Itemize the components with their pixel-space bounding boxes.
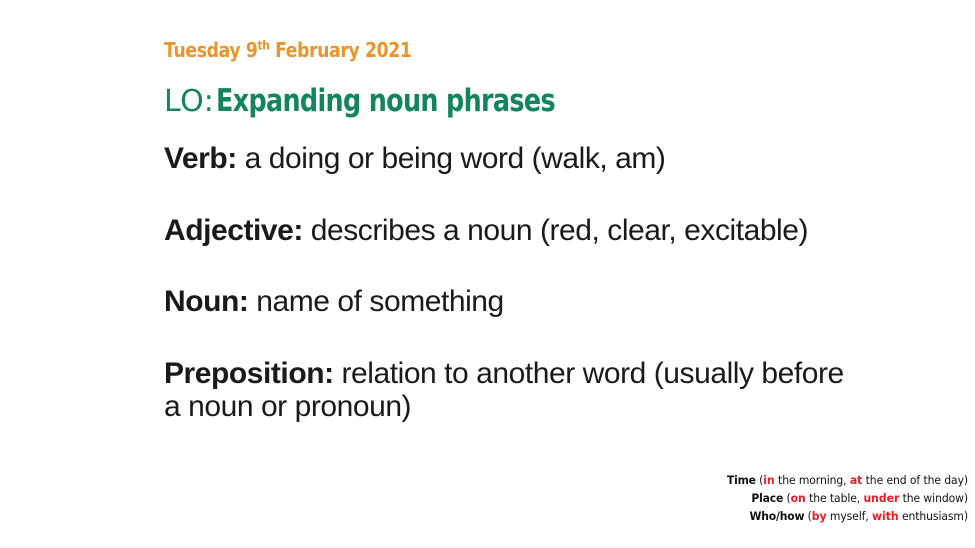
example-text-1: the morning, [775, 473, 850, 487]
definition-description: describes a noun (red, clear, excitable) [303, 214, 808, 247]
preposition-example-place: Place (on the table, under the window) [694, 489, 968, 507]
preposition-examples-block: Time (in the morning, at the end of the … [676, 471, 968, 525]
learning-objective-prefix: LO: [164, 84, 214, 119]
definition-row-preposition: Preposition: relation to another word (u… [164, 357, 864, 424]
learning-objective-heading: LO:Expanding noun phrases [164, 86, 630, 117]
example-text-1: myself, [827, 509, 872, 523]
example-preposition-2: under [863, 491, 899, 505]
definition-description: a doing or being word (walk, am) [237, 142, 666, 175]
example-label: Who/how [749, 509, 804, 523]
definition-term: Verb: [164, 142, 237, 175]
definition-row-adjective: Adjective: describes a noun (red, clear,… [164, 214, 864, 248]
definition-term: Preposition: [164, 357, 334, 390]
example-preposition-1: by [812, 509, 827, 523]
definition-term: Adjective: [164, 214, 303, 247]
presentation-slide: Tuesday 9th February 2021 LO:Expanding n… [0, 0, 975, 548]
definition-description: name of something [248, 285, 503, 318]
definition-row-verb: Verb: a doing or being word (walk, am) [164, 142, 864, 176]
preposition-example-time: Time (in the morning, at the end of the … [694, 471, 968, 489]
example-open-paren: ( [804, 509, 811, 523]
preposition-example-whohow: Who/how (by myself, with enthusiasm) [694, 507, 968, 525]
example-preposition-2: with [872, 509, 899, 523]
example-preposition-1: in [763, 473, 774, 487]
date-suffix: February 2021 [269, 38, 411, 62]
example-label: Time [727, 473, 756, 487]
date-prefix: Tuesday 9 [164, 38, 257, 62]
definition-list: Verb: a doing or being word (walk, am) A… [164, 142, 864, 424]
example-close-paren: ) [964, 509, 968, 523]
example-close-paren: ) [964, 473, 968, 487]
example-preposition-1: on [791, 491, 806, 505]
definition-term: Noun: [164, 285, 248, 318]
example-preposition-2: at [850, 473, 862, 487]
slide-date: Tuesday 9th February 2021 [164, 38, 412, 62]
example-close-paren: ) [964, 491, 968, 505]
date-ordinal-suffix: th [257, 37, 269, 52]
example-text-2: the end of the day [862, 473, 964, 487]
example-label: Place [751, 491, 783, 505]
example-text-1: the table, [806, 491, 864, 505]
example-text-2: the window [899, 491, 964, 505]
definition-row-noun: Noun: name of something [164, 285, 864, 319]
example-text-2: enthusiasm [899, 509, 964, 523]
learning-objective-title: Expanding noun phrases [216, 86, 555, 117]
